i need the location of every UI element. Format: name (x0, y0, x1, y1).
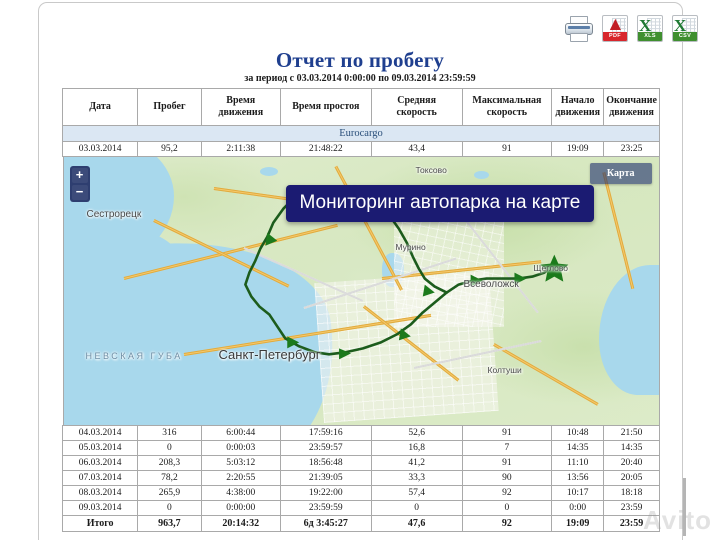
col-header-end-moving-l2: движения (606, 107, 657, 119)
table-row[interactable]: 07.03.2014 78,2 2:20:55 21:39:05 33,3 90… (63, 471, 660, 486)
map-label-sestroretsk: Сестрорецк (87, 209, 142, 220)
col-header-date-l1: Дата (65, 101, 135, 113)
cell-idle-time: 17:59:16 (280, 426, 371, 441)
table-row[interactable]: 06.03.2014 208,3 5:03:12 18:56:48 41,2 9… (63, 456, 660, 471)
map-label-nevskaya-guba: НЕВСКАЯ ГУБА (86, 351, 183, 361)
cell-start-moving: 19:09 (552, 142, 604, 157)
cell-mileage: 0 (138, 501, 201, 516)
cell-moving-time: 6:00:44 (201, 426, 280, 441)
cell-moving-time: 5:03:12 (201, 456, 280, 471)
table-row[interactable]: 08.03.2014 265,9 4:38:00 19:22:00 57,4 9… (63, 486, 660, 501)
csv-export-icon[interactable]: X CSV (672, 15, 698, 42)
map-label-sheglovo: Щеглово (534, 263, 569, 273)
cell-date: 06.03.2014 (63, 456, 138, 471)
map-cell: Токсово Юкки Сестрорецк Мурино Всеволожс… (63, 157, 660, 426)
cell-moving-time: 2:20:55 (201, 471, 280, 486)
pdf-glyph: ▲ (606, 16, 625, 33)
cell-max-speed: 92 (462, 486, 552, 501)
report-period-subtitle: за период с 03.03.2014 0:00:00 по 09.03.… (0, 73, 720, 84)
map-label-vsevolozhsk: Всеволожск (464, 279, 519, 290)
col-header-max-speed-l2: скорость (465, 107, 550, 119)
cell-date: 03.03.2014 (63, 142, 138, 157)
map-label-murino: Мурино (396, 242, 426, 252)
page-title: Отчет по пробегу (0, 48, 720, 73)
col-header-avg-speed[interactable]: Средняя скорость (371, 89, 462, 126)
map-label-saint-petersburg: Санкт-Петербург (219, 347, 321, 362)
cell-moving-time: 4:38:00 (201, 486, 280, 501)
total-max-speed: 92 (462, 516, 552, 532)
table-total-row: Итого 963,7 20:14:32 6д 3:45:27 47,6 92 … (63, 516, 660, 532)
cell-mileage: 0 (138, 441, 201, 456)
cell-date: 05.03.2014 (63, 441, 138, 456)
cell-mileage: 265,9 (138, 486, 201, 501)
table-body: Eurocargo 03.03.2014 95,2 2:11:38 21:48:… (63, 126, 660, 532)
cell-mileage: 208,3 (138, 456, 201, 471)
cell-start-moving: 0:00 (552, 501, 604, 516)
col-header-avg-speed-l1: Средняя (374, 95, 460, 107)
cell-end-moving: 18:18 (604, 486, 660, 501)
map-type-button[interactable]: Карта (590, 163, 652, 184)
pdf-label: PDF (603, 32, 627, 41)
cell-avg-speed: 52,6 (371, 426, 462, 441)
col-header-start-moving-l1: Начало (554, 95, 601, 107)
cell-date: 08.03.2014 (63, 486, 138, 501)
cell-end-moving: 14:35 (604, 441, 660, 456)
total-avg-speed: 47,6 (371, 516, 462, 532)
printer-paper (570, 33, 588, 42)
cell-max-speed: 7 (462, 441, 552, 456)
total-mileage: 963,7 (138, 516, 201, 532)
vehicle-group-label: Eurocargo (63, 126, 660, 142)
map-label-toksovo: Токсово (416, 165, 447, 175)
cell-moving-time: 0:00:03 (201, 441, 280, 456)
total-moving-time: 20:14:32 (201, 516, 280, 532)
col-header-moving-time[interactable]: Время движения (201, 89, 280, 126)
fleet-map[interactable]: Токсово Юкки Сестрорецк Мурино Всеволожс… (63, 157, 660, 425)
cell-avg-speed: 0 (371, 501, 462, 516)
table-header: Дата Пробег Время движения Время простоя… (63, 89, 660, 126)
cell-mileage: 316 (138, 426, 201, 441)
cell-end-moving: 21:50 (604, 426, 660, 441)
col-header-moving-time-l1: Время (204, 95, 278, 107)
col-header-end-moving-l1: Окончание (606, 95, 657, 107)
table-header-row: Дата Пробег Время движения Время простоя… (63, 89, 660, 126)
xls-export-icon[interactable]: X XLS (637, 15, 663, 42)
col-header-date[interactable]: Дата (63, 89, 138, 126)
cell-avg-speed: 16,8 (371, 441, 462, 456)
cell-end-moving: 23:59 (604, 501, 660, 516)
cell-avg-speed: 57,4 (371, 486, 462, 501)
vehicle-group-row: Eurocargo (63, 126, 660, 142)
cell-moving-time: 2:11:38 (201, 142, 280, 157)
cell-avg-speed: 33,3 (371, 471, 462, 486)
col-header-moving-time-l2: движения (204, 107, 278, 119)
cell-max-speed: 91 (462, 426, 552, 441)
cell-avg-speed: 43,4 (371, 142, 462, 157)
printer-slot (568, 26, 590, 29)
cell-avg-speed: 41,2 (371, 456, 462, 471)
cell-idle-time: 23:59:59 (280, 501, 371, 516)
print-icon[interactable] (565, 16, 593, 42)
cell-idle-time: 19:22:00 (280, 486, 371, 501)
cell-idle-time: 23:59:57 (280, 441, 371, 456)
cell-end-moving: 23:25 (604, 142, 660, 157)
col-header-max-speed[interactable]: Максимальная скорость (462, 89, 552, 126)
xls-label: XLS (638, 32, 662, 41)
total-label: Итого (63, 516, 138, 532)
cell-date: 09.03.2014 (63, 501, 138, 516)
mileage-report-table: Дата Пробег Время движения Время простоя… (62, 88, 660, 532)
cell-max-speed: 90 (462, 471, 552, 486)
cell-max-speed: 91 (462, 456, 552, 471)
cell-idle-time: 18:56:48 (280, 456, 371, 471)
col-header-idle-time-l1: Время простоя (283, 101, 369, 113)
cell-mileage: 95,2 (138, 142, 201, 157)
table-row[interactable]: 03.03.2014 95,2 2:11:38 21:48:22 43,4 91… (63, 142, 660, 157)
map-zoom-control: + − (70, 166, 90, 202)
col-header-mileage-l1: Пробег (140, 101, 198, 113)
total-end-moving: 23:59 (604, 516, 660, 532)
cell-max-speed: 0 (462, 501, 552, 516)
map-label-koltushi: Колтуши (488, 365, 522, 375)
cell-end-moving: 20:40 (604, 456, 660, 471)
table-row[interactable]: 05.03.2014 0 0:00:03 23:59:57 16,8 7 14:… (63, 441, 660, 456)
cell-date: 07.03.2014 (63, 471, 138, 486)
total-idle-time: 6д 3:45:27 (280, 516, 371, 532)
cell-start-moving: 10:17 (552, 486, 604, 501)
cell-mileage: 78,2 (138, 471, 201, 486)
promo-banner: Мониторинг автопарка на карте (286, 185, 595, 222)
total-start-moving: 19:09 (552, 516, 604, 532)
col-header-start-moving[interactable]: Начало движения (552, 89, 604, 126)
col-header-mileage[interactable]: Пробег (138, 89, 201, 126)
table-row[interactable]: 09.03.2014 0 0:00:00 23:59:59 0 0 0:00 2… (63, 501, 660, 516)
table-row[interactable]: 04.03.2014 316 6:00:44 17:59:16 52,6 91 … (63, 426, 660, 441)
zoom-out-button[interactable]: − (72, 185, 88, 200)
cell-date: 04.03.2014 (63, 426, 138, 441)
col-header-idle-time[interactable]: Время простоя (280, 89, 371, 126)
cell-start-moving: 10:48 (552, 426, 604, 441)
cell-start-moving: 14:35 (552, 441, 604, 456)
cell-max-speed: 91 (462, 142, 552, 157)
cell-start-moving: 13:56 (552, 471, 604, 486)
export-toolbar: ▲ PDF X XLS X CSV (565, 8, 698, 42)
map-row: Токсово Юкки Сестрорецк Мурино Всеволожс… (63, 157, 660, 426)
col-header-avg-speed-l2: скорость (374, 107, 460, 119)
cell-start-moving: 11:10 (552, 456, 604, 471)
zoom-in-button[interactable]: + (72, 168, 88, 183)
csv-label: CSV (673, 32, 697, 41)
col-header-max-speed-l1: Максимальная (465, 95, 550, 107)
pdf-export-icon[interactable]: ▲ PDF (602, 15, 628, 42)
cell-end-moving: 20:05 (604, 471, 660, 486)
col-header-end-moving[interactable]: Окончание движения (604, 89, 660, 126)
col-header-start-moving-l2: движения (554, 107, 601, 119)
cell-idle-time: 21:48:22 (280, 142, 371, 157)
page-scrollbar[interactable] (683, 478, 686, 536)
cell-moving-time: 0:00:00 (201, 501, 280, 516)
cell-idle-time: 21:39:05 (280, 471, 371, 486)
